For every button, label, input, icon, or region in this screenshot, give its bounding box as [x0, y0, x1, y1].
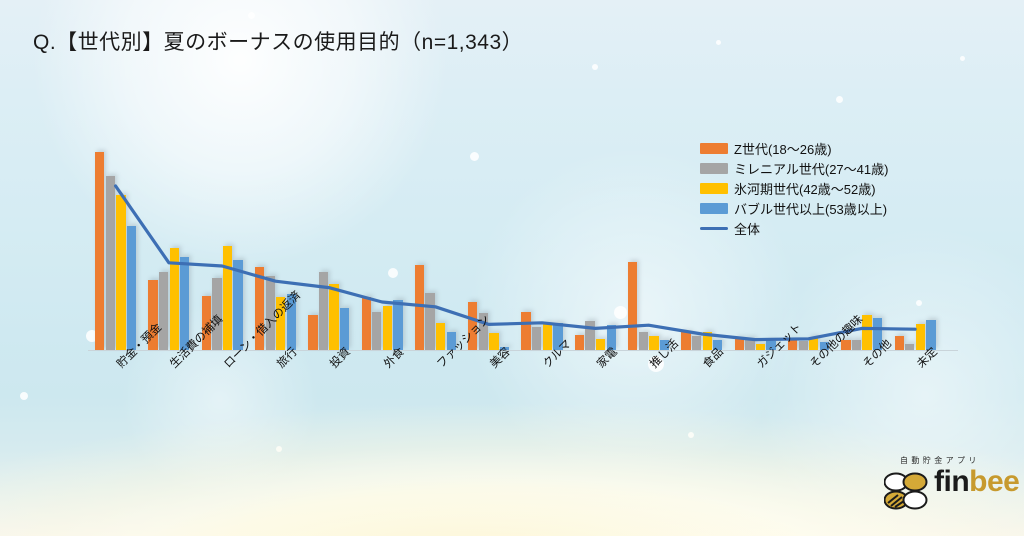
bar — [628, 262, 637, 350]
bar — [106, 176, 115, 350]
bar — [735, 338, 744, 350]
logo-word-fin: fin — [934, 465, 969, 498]
legend-color-swatch — [700, 203, 728, 214]
chart-slide: Q.【世代別】夏のボーナスの使用目的（n=1,343） 貯金・預金生活費の補填ロ… — [0, 0, 1024, 536]
bee-icon — [884, 469, 930, 513]
bar — [425, 293, 434, 350]
bar — [223, 246, 232, 350]
bar — [159, 272, 168, 350]
bar — [799, 341, 808, 350]
bar — [116, 195, 125, 350]
chart-legend: Z世代(18〜26歳)ミレニアル世代(27〜41歳)氷河期世代(42歳〜52歳)… — [700, 139, 888, 239]
finbee-logo: 自動貯金アプリ finbee — [884, 455, 1014, 517]
bar — [383, 306, 392, 350]
legend-item: 氷河期世代(42歳〜52歳) — [700, 179, 888, 198]
bar — [895, 336, 904, 350]
logo-wordmark: finbee — [934, 467, 1019, 497]
bar — [362, 297, 371, 350]
bar — [852, 340, 861, 350]
legend-label: ミレニアル世代(27〜41歳) — [734, 159, 888, 178]
logo-word-bee: bee — [969, 465, 1019, 498]
legend-color-swatch — [700, 143, 728, 154]
bar — [521, 312, 530, 350]
bar — [745, 338, 754, 350]
legend-label: Z世代(18〜26歳) — [734, 139, 832, 158]
legend-color-swatch — [700, 163, 728, 174]
bar — [233, 260, 242, 350]
bar — [916, 324, 925, 350]
legend-item: バブル世代以上(53歳以上) — [700, 199, 888, 218]
legend-color-swatch — [700, 183, 728, 194]
legend-label: バブル世代以上(53歳以上) — [734, 199, 887, 218]
bar — [415, 265, 424, 350]
bar — [95, 152, 104, 350]
legend-item: 全体 — [700, 219, 888, 238]
bar — [681, 332, 690, 350]
bar — [436, 323, 445, 350]
legend-label: 全体 — [734, 219, 760, 238]
bar — [393, 300, 402, 350]
bar — [170, 248, 179, 350]
bar — [575, 335, 584, 350]
legend-item: Z世代(18〜26歳) — [700, 139, 888, 158]
legend-item: ミレニアル世代(27〜41歳) — [700, 159, 888, 178]
bar — [543, 323, 552, 350]
bar — [532, 327, 541, 350]
bar — [639, 332, 648, 350]
legend-label: 氷河期世代(42歳〜52歳) — [734, 179, 876, 198]
bar — [329, 284, 338, 350]
bar — [308, 315, 317, 350]
bar — [585, 321, 594, 350]
bar — [319, 272, 328, 350]
legend-line-swatch — [700, 227, 728, 230]
chart-plot-area: 貯金・預金生活費の補填ローン・借入の返済旅行投資外食ファッション美容クルマ家電推… — [0, 0, 1024, 536]
bar — [127, 226, 136, 350]
bar — [372, 312, 381, 350]
bar — [692, 336, 701, 350]
